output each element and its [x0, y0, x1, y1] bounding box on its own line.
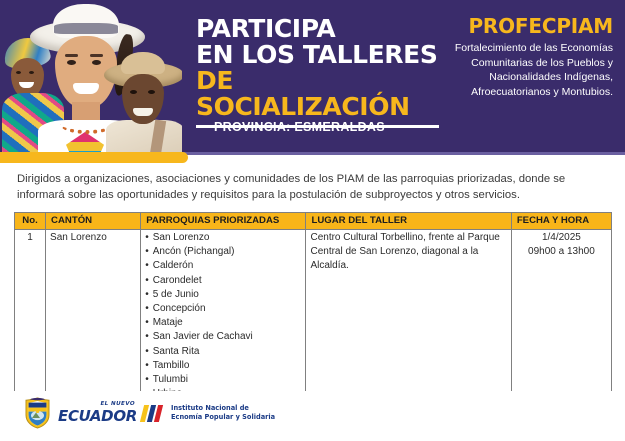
cell-lugar: Centro Cultural Torbellino, frente al Pa… [306, 230, 511, 403]
cell-fecha: 1/4/2025 09h00 a 13h00 [511, 230, 611, 403]
program-subtitle: Fortalecimiento de las Economías Comunit… [417, 41, 613, 99]
th-parroquias: PARROQUIAS PRIORIZADAS [141, 213, 306, 230]
header-banner: PARTICIPA EN LOS TALLERES DE SOCIALIZACI… [0, 0, 625, 155]
headline-line-3: DE SOCIALIZACIÓN [196, 68, 446, 120]
brow-shape [65, 54, 78, 57]
hat-band-shape [54, 23, 118, 34]
eye-shape [67, 60, 76, 65]
eye-shape [92, 60, 101, 65]
th-fecha: FECHA Y HORA [511, 213, 611, 230]
ecuador-coat-of-arms-icon [24, 397, 51, 429]
list-item: San Lorenzo [145, 231, 301, 245]
th-canton: CANTÓN [46, 213, 141, 230]
workshops-table: No. CANTÓN PARROQUIAS PRIORIZADAS LUGAR … [14, 212, 612, 403]
eye-shape [16, 71, 21, 74]
table-body: 1 San Lorenzo San Lorenzo Ancón (Pichang… [15, 230, 612, 403]
el-nuevo-ecuador-logo: EL NUEVO ECUADOR [58, 402, 161, 424]
list-item: Ancón (Pichangal) [145, 245, 301, 259]
hat-crown-shape [121, 52, 165, 74]
cell-canton: San Lorenzo [46, 230, 141, 403]
workshops-table-wrapper: No. CANTÓN PARROQUIAS PRIORIZADAS LUGAR … [14, 212, 612, 403]
list-item: Santa Rita [145, 345, 301, 359]
smile-shape [133, 108, 153, 116]
cell-no: 1 [15, 230, 46, 403]
eye-shape [130, 90, 137, 94]
footer-logo-lockup: EL NUEVO ECUADOR Instituto Nacional de E… [24, 397, 275, 429]
program-title: PROFECPIAM [417, 14, 613, 38]
program-block: PROFECPIAM Fortalecimiento de las Econom… [417, 14, 613, 99]
lugar-text: Centro Cultural Torbellino, frente al Pa… [310, 232, 499, 271]
table-row: 1 San Lorenzo San Lorenzo Ancón (Pichang… [15, 230, 612, 403]
face-shape [122, 74, 164, 124]
fecha-time: 09h00 a 13h00 [516, 245, 607, 259]
province-label: PROVINCIA: ESMERALDAS [214, 120, 385, 134]
smile-shape [73, 83, 99, 94]
list-item: Concepción [145, 302, 301, 316]
headline-block: PARTICIPA EN LOS TALLERES DE SOCIALIZACI… [196, 16, 446, 128]
list-item: Calderón [145, 259, 301, 273]
brow-shape [90, 54, 103, 57]
footer-bar: EL NUEVO ECUADOR Instituto Nacional de E… [0, 391, 625, 441]
list-item: 5 de Junio [145, 288, 301, 302]
shirt-shape [106, 120, 182, 155]
headline-line-1: PARTICIPA [196, 16, 446, 42]
yellow-accent-tab [0, 152, 188, 163]
table-head: No. CANTÓN PARROQUIAS PRIORIZADAS LUGAR … [15, 213, 612, 230]
list-item: Carondelet [145, 274, 301, 288]
institute-line-2: Ecnomía Popular y Solidaria [171, 413, 275, 422]
list-item: Tulumbi [145, 373, 301, 387]
list-item: Mataje [145, 316, 301, 330]
eye-shape [148, 90, 155, 94]
th-lugar: LUGAR DEL TALLER [306, 213, 511, 230]
parroquias-list: San Lorenzo Ancón (Pichangal) Calderón C… [145, 231, 301, 401]
ecuador-wordmark: EL NUEVO ECUADOR [58, 402, 137, 424]
photo-person-right [104, 52, 182, 155]
ecuador-flag-icon [140, 405, 163, 422]
intro-paragraph: Dirigidos a organizaciones, asociaciones… [17, 172, 611, 203]
fecha-date: 1/4/2025 [516, 231, 607, 245]
poster-root: PARTICIPA EN LOS TALLERES DE SOCIALIZACI… [0, 0, 625, 441]
th-no: No. [15, 213, 46, 230]
header-photo-collage [0, 0, 182, 155]
ecuador-title: ECUADOR [58, 409, 137, 424]
table-header-row: No. CANTÓN PARROQUIAS PRIORIZADAS LUGAR … [15, 213, 612, 230]
headline-line-2: EN LOS TALLERES [196, 42, 446, 68]
institute-name: Instituto Nacional de Ecnomía Popular y … [171, 404, 275, 422]
list-item: San Javier de Cachavi [145, 330, 301, 344]
list-item: Tambillo [145, 359, 301, 373]
cell-parroquias: San Lorenzo Ancón (Pichangal) Calderón C… [141, 230, 306, 403]
institute-line-1: Instituto Nacional de [171, 404, 275, 413]
